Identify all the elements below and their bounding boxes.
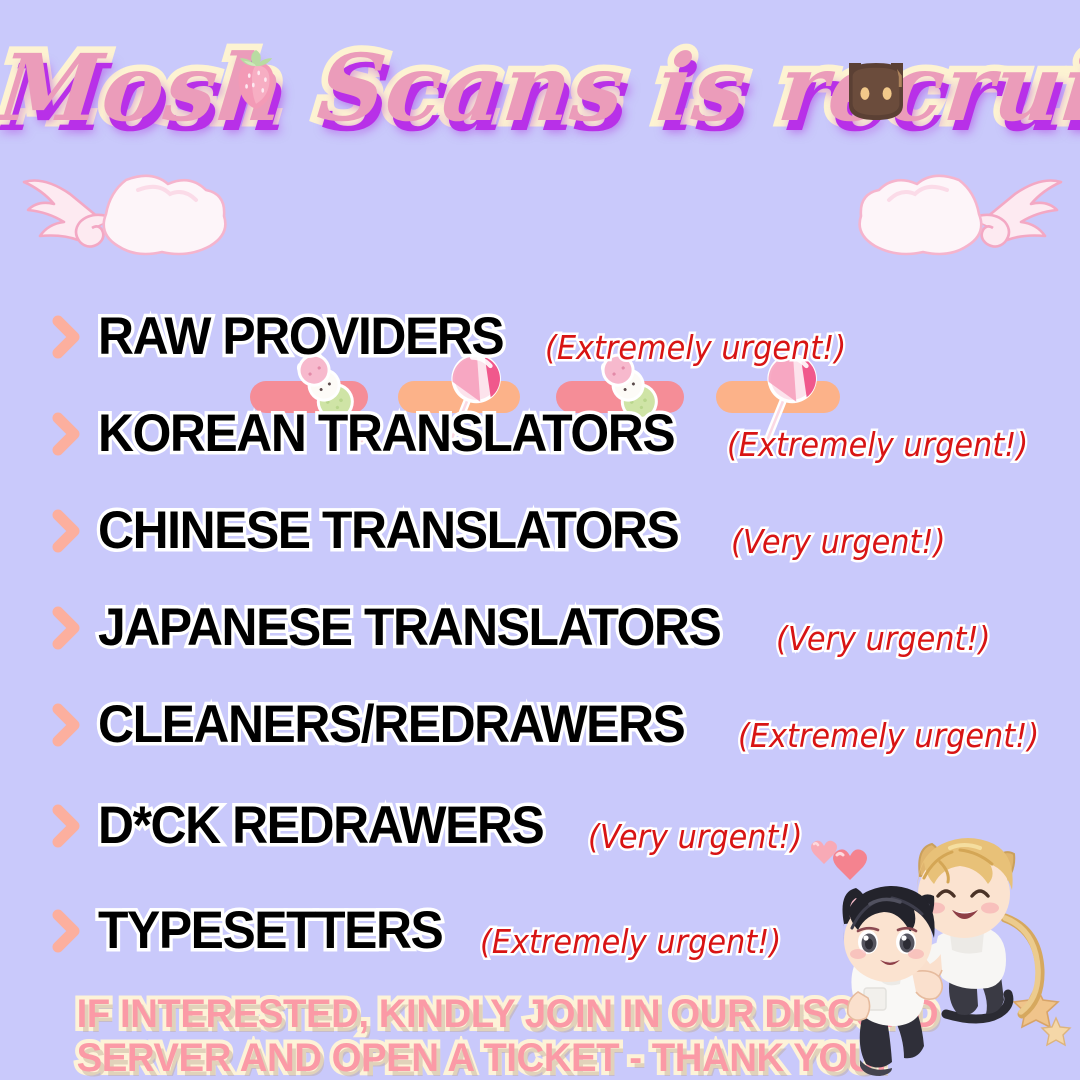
list-item: TYPESETTERS (Extremely urgent!) xyxy=(52,894,808,968)
role-urgency: (Extremely urgent!) xyxy=(545,328,846,374)
footer-message: IF INTERESTED, KINDLY JOIN IN OUR DISCOR… xyxy=(60,992,890,1080)
pixel-cat-icon xyxy=(840,60,912,132)
footer-line-2: SERVER AND OPEN A TICKET - THANK YOU! xyxy=(77,1036,874,1080)
role-name: TYPESETTERS xyxy=(98,903,442,959)
winged-cloud-icon xyxy=(852,160,1067,285)
chevron-right-icon xyxy=(52,412,82,456)
chevron-right-icon xyxy=(52,315,82,359)
role-urgency: (Extremely urgent!) xyxy=(738,716,1039,762)
role-urgency: (Very urgent!) xyxy=(776,619,990,665)
role-urgency: (Very urgent!) xyxy=(731,522,945,568)
heart-icon xyxy=(811,841,837,864)
winged-cloud-icon xyxy=(18,160,233,285)
chevron-right-icon xyxy=(52,909,82,953)
list-item: JAPANESE TRANSLATORS (Very urgent!) xyxy=(52,591,1009,665)
list-item: D*CK REDRAWERS (Very urgent!) xyxy=(52,789,821,863)
heart-icon xyxy=(833,849,867,880)
recruitment-poster: Mosh Scans is recruiting! xyxy=(0,0,1080,1080)
chevron-right-icon xyxy=(52,804,82,848)
list-item: RAW PROVIDERS (Extremely urgent!) xyxy=(52,300,872,374)
page-title: Mosh Scans is recruiting! xyxy=(0,22,1080,154)
role-urgency: (Extremely urgent!) xyxy=(727,425,1028,471)
catboys-artwork xyxy=(800,818,1080,1080)
role-name: RAW PROVIDERS xyxy=(98,309,503,365)
role-urgency: (Very urgent!) xyxy=(588,817,802,863)
role-name: JAPANESE TRANSLATORS xyxy=(98,600,720,656)
list-item: CLEANERS/REDRAWERS (Extremely urgent!) xyxy=(52,688,1065,762)
footer-line-1: IF INTERESTED, KINDLY JOIN IN OUR DISCOR… xyxy=(77,992,874,1036)
role-name: CLEANERS/REDRAWERS xyxy=(98,697,684,753)
role-name: CHINESE TRANSLATORS xyxy=(98,503,678,559)
role-name: D*CK REDRAWERS xyxy=(98,798,543,854)
chibi-catboys-illustration xyxy=(800,818,1080,1080)
title-area: Mosh Scans is recruiting! xyxy=(0,22,1080,162)
list-item: CHINESE TRANSLATORS (Very urgent!) xyxy=(52,494,964,568)
role-urgency: (Extremely urgent!) xyxy=(480,922,781,968)
role-name: KOREAN TRANSLATORS xyxy=(98,406,674,462)
list-item: KOREAN TRANSLATORS (Extremely urgent!) xyxy=(52,397,1054,471)
chevron-right-icon xyxy=(52,703,82,747)
chevron-right-icon xyxy=(52,606,82,650)
dark-catboy xyxy=(843,886,943,1076)
strawberry-icon xyxy=(228,50,284,112)
decorative-divider xyxy=(0,160,1080,292)
chevron-right-icon xyxy=(52,509,82,553)
